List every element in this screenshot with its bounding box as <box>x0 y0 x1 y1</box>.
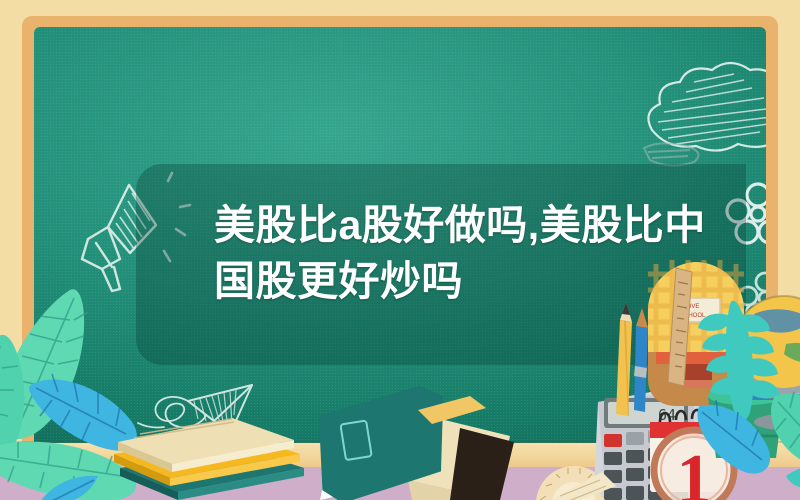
cloud-chalk-drawing <box>634 52 766 182</box>
open-book-center <box>300 384 540 500</box>
book-stack-left <box>108 398 318 500</box>
paintbrush <box>628 306 660 416</box>
leaf-cluster-right <box>690 300 800 500</box>
paper-scrap <box>546 466 616 500</box>
sprout-blue <box>36 456 106 500</box>
poster-image: 美股比a股好做吗,美股比中国股更好炒吗 <box>0 0 800 500</box>
